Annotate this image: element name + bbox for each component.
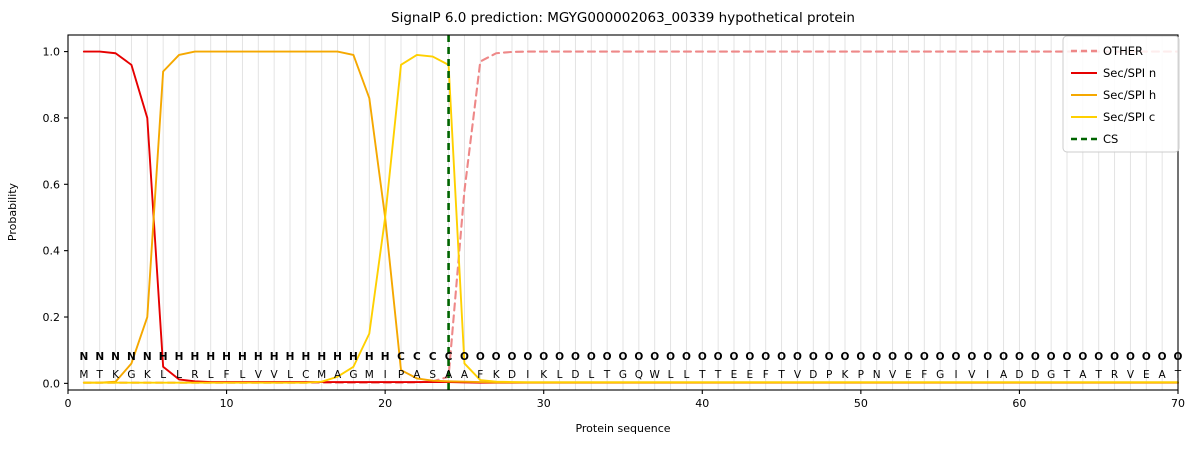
sequence-residue: A: [1079, 369, 1087, 381]
sequence-residue: L: [208, 369, 214, 381]
sequence-region-marker: O: [952, 351, 961, 363]
sequence-region-marker: O: [825, 351, 834, 363]
y-tick-label: 0.4: [43, 245, 61, 258]
sequence-residue: I: [526, 369, 529, 381]
sequence-residue: K: [493, 369, 501, 381]
y-tick-label: 0.2: [43, 311, 61, 324]
sequence-region-marker: O: [1158, 351, 1167, 363]
sequence-residue: F: [763, 369, 769, 381]
sequence-region-marker: O: [476, 351, 485, 363]
sequence-residue: D: [1031, 369, 1039, 381]
sequence-region-marker: H: [301, 351, 310, 363]
sequence-residue: T: [1095, 369, 1103, 381]
sequence-region-marker: O: [761, 351, 770, 363]
sequence-residue: I: [384, 369, 387, 381]
sequence-residue: E: [747, 369, 754, 381]
sequence-residue: T: [603, 369, 611, 381]
series-line-sec-spi-h: [84, 52, 1178, 383]
sequence-region-marker: O: [920, 351, 929, 363]
sequence-region-marker: O: [745, 351, 754, 363]
sequence-track: NMNTNKNGNKHLHLHRHLHFHLHVHVHLHCHMHAHGHMHI…: [79, 351, 1182, 381]
sequence-residue: A: [461, 369, 469, 381]
sequence-region-marker: O: [730, 351, 739, 363]
sequence-region-marker: N: [127, 351, 136, 363]
sequence-residue: P: [398, 369, 404, 381]
sequence-region-marker: O: [1031, 351, 1040, 363]
sequence-residue: K: [112, 369, 120, 381]
legend-label[interactable]: Sec/SPI n: [1103, 66, 1156, 80]
sequence-region-marker: H: [175, 351, 184, 363]
signalp-figure: 010203040506070 0.00.20.40.60.81.0 NMNTN…: [0, 0, 1200, 450]
sequence-region-marker: N: [95, 351, 104, 363]
sequence-residue: G: [619, 369, 627, 381]
sequence-region-marker: O: [1015, 351, 1024, 363]
gridlines: [84, 35, 1178, 390]
sequence-region-marker: H: [254, 351, 263, 363]
sequence-residue: G: [349, 369, 357, 381]
y-tick-label: 0.0: [43, 377, 61, 390]
x-tick-label: 40: [695, 397, 709, 410]
sequence-region-marker: O: [793, 351, 802, 363]
sequence-residue: L: [160, 369, 166, 381]
sequence-residue: T: [1063, 369, 1071, 381]
sequence-residue: D: [571, 369, 579, 381]
sequence-residue: M: [317, 369, 326, 381]
sequence-residue: L: [557, 369, 563, 381]
x-tick-label: 20: [378, 397, 392, 410]
sequence-residue: L: [683, 369, 689, 381]
y-tick-label: 0.6: [43, 178, 61, 191]
sequence-region-marker: H: [365, 351, 374, 363]
sequence-region-marker: C: [429, 351, 437, 363]
sequence-region-marker: H: [222, 351, 231, 363]
y-tick-label: 0.8: [43, 112, 61, 125]
sequence-region-marker: O: [714, 351, 723, 363]
sequence-residue: N: [873, 369, 881, 381]
sequence-region-marker: O: [967, 351, 976, 363]
x-tick-label: 50: [854, 397, 868, 410]
sequence-residue: E: [731, 369, 738, 381]
sequence-residue: L: [668, 369, 674, 381]
sequence-region-marker: O: [983, 351, 992, 363]
sequence-region-marker: O: [508, 351, 517, 363]
sequence-region-marker: O: [1078, 351, 1087, 363]
sequence-residue: A: [1159, 369, 1167, 381]
sequence-residue: A: [334, 369, 342, 381]
sequence-region-marker: O: [936, 351, 945, 363]
sequence-residue: D: [1015, 369, 1023, 381]
sequence-region-marker: O: [634, 351, 643, 363]
sequence-region-marker: H: [190, 351, 199, 363]
series-lines: [84, 52, 1178, 383]
sequence-region-marker: N: [79, 351, 88, 363]
sequence-residue: T: [698, 369, 706, 381]
sequence-residue: G: [1047, 369, 1055, 381]
sequence-region-marker: O: [666, 351, 675, 363]
sequence-residue: A: [413, 369, 421, 381]
x-axis-label: Protein sequence: [575, 422, 670, 435]
sequence-residue: G: [127, 369, 135, 381]
sequence-region-marker: O: [872, 351, 881, 363]
sequence-residue: E: [1143, 369, 1150, 381]
y-axis-ticks: 0.00.20.40.60.81.0: [43, 46, 69, 391]
sequence-residue: R: [1111, 369, 1118, 381]
sequence-region-marker: O: [888, 351, 897, 363]
sequence-residue: D: [809, 369, 817, 381]
x-tick-label: 30: [537, 397, 551, 410]
sequence-region-marker: O: [492, 351, 501, 363]
sequence-region-marker: O: [460, 351, 469, 363]
sequence-region-marker: O: [777, 351, 786, 363]
sequence-residue: F: [921, 369, 927, 381]
sequence-residue: E: [905, 369, 912, 381]
sequence-residue: I: [954, 369, 957, 381]
sequence-residue: A: [1000, 369, 1008, 381]
sequence-region-marker: H: [238, 351, 247, 363]
sequence-residue: D: [508, 369, 516, 381]
sequence-residue: A: [445, 369, 453, 381]
sequence-region-marker: H: [349, 351, 358, 363]
sequence-region-marker: O: [809, 351, 818, 363]
sequence-residue: M: [79, 369, 88, 381]
sequence-residue: F: [477, 369, 483, 381]
x-axis-ticks: 010203040506070: [65, 390, 1186, 410]
page-title: SignalP 6.0 prediction: MGYG000002063_00…: [391, 10, 855, 26]
sequence-region-marker: O: [1126, 351, 1135, 363]
sequence-residue: Q: [635, 369, 643, 381]
sequence-region-marker: O: [856, 351, 865, 363]
sequence-region-marker: H: [381, 351, 390, 363]
x-tick-label: 60: [1012, 397, 1026, 410]
sequence-residue: V: [889, 369, 897, 381]
sequence-region-marker: O: [1174, 351, 1183, 363]
sequence-region-marker: O: [619, 351, 628, 363]
plot-svg: 010203040506070 0.00.20.40.60.81.0 NMNTN…: [0, 0, 1200, 450]
sequence-region-marker: O: [603, 351, 612, 363]
sequence-residue: K: [144, 369, 152, 381]
sequence-residue: M: [365, 369, 374, 381]
series-line-sec-spi-n: [84, 52, 1178, 383]
sequence-region-marker: C: [413, 351, 421, 363]
sequence-residue: V: [968, 369, 976, 381]
sequence-residue: P: [826, 369, 832, 381]
series-line-other: [84, 52, 1178, 383]
x-tick-label: 0: [65, 397, 72, 410]
sequence-region-marker: O: [999, 351, 1008, 363]
sequence-region-marker: H: [270, 351, 279, 363]
sequence-region-marker: O: [1063, 351, 1072, 363]
legend[interactable]: OTHERSec/SPI nSec/SPI hSec/SPI cCS: [1063, 36, 1179, 152]
sequence-region-marker: O: [650, 351, 659, 363]
sequence-region-marker: O: [1094, 351, 1103, 363]
sequence-region-marker: H: [286, 351, 295, 363]
sequence-residue: G: [936, 369, 944, 381]
legend-label[interactable]: OTHER: [1103, 44, 1143, 58]
sequence-region-marker: O: [841, 351, 850, 363]
sequence-residue: P: [858, 369, 864, 381]
sequence-residue: V: [271, 369, 279, 381]
sequence-residue: S: [429, 369, 436, 381]
sequence-residue: R: [191, 369, 198, 381]
sequence-region-marker: O: [682, 351, 691, 363]
y-tick-label: 1.0: [43, 46, 61, 59]
sequence-region-marker: O: [1142, 351, 1151, 363]
legend-label[interactable]: Sec/SPI c: [1103, 110, 1155, 124]
sequence-region-marker: H: [333, 351, 342, 363]
sequence-residue: T: [96, 369, 104, 381]
sequence-region-marker: N: [111, 351, 120, 363]
sequence-residue: K: [540, 369, 548, 381]
sequence-residue: L: [176, 369, 182, 381]
legend-label[interactable]: CS: [1103, 132, 1118, 146]
sequence-residue: T: [714, 369, 722, 381]
sequence-region-marker: H: [159, 351, 168, 363]
sequence-region-marker: O: [698, 351, 707, 363]
sequence-residue: L: [588, 369, 594, 381]
sequence-region-marker: O: [904, 351, 913, 363]
sequence-region-marker: O: [1047, 351, 1056, 363]
sequence-region-marker: H: [206, 351, 215, 363]
sequence-residue: V: [255, 369, 263, 381]
sequence-region-marker: O: [571, 351, 580, 363]
sequence-region-marker: N: [143, 351, 152, 363]
sequence-region-marker: O: [555, 351, 564, 363]
sequence-region-marker: C: [397, 351, 405, 363]
x-tick-label: 70: [1171, 397, 1185, 410]
sequence-region-marker: O: [539, 351, 548, 363]
sequence-residue: V: [794, 369, 802, 381]
sequence-residue: F: [224, 369, 230, 381]
sequence-residue: W: [650, 369, 661, 381]
sequence-residue: L: [287, 369, 293, 381]
sequence-residue: K: [842, 369, 850, 381]
sequence-region-marker: O: [587, 351, 596, 363]
sequence-residue: T: [777, 369, 785, 381]
sequence-residue: V: [1127, 369, 1135, 381]
y-axis-label: Probability: [6, 182, 19, 241]
sequence-residue: I: [986, 369, 989, 381]
series-line-sec-spi-c: [84, 55, 1178, 383]
sequence-region-marker: H: [317, 351, 326, 363]
sequence-region-marker: O: [1110, 351, 1119, 363]
sequence-residue: C: [302, 369, 309, 381]
sequence-region-marker: O: [523, 351, 532, 363]
sequence-residue: T: [1174, 369, 1182, 381]
sequence-residue: L: [239, 369, 245, 381]
x-tick-label: 10: [220, 397, 234, 410]
sequence-region-marker: C: [445, 351, 453, 363]
legend-label[interactable]: Sec/SPI h: [1103, 88, 1156, 102]
